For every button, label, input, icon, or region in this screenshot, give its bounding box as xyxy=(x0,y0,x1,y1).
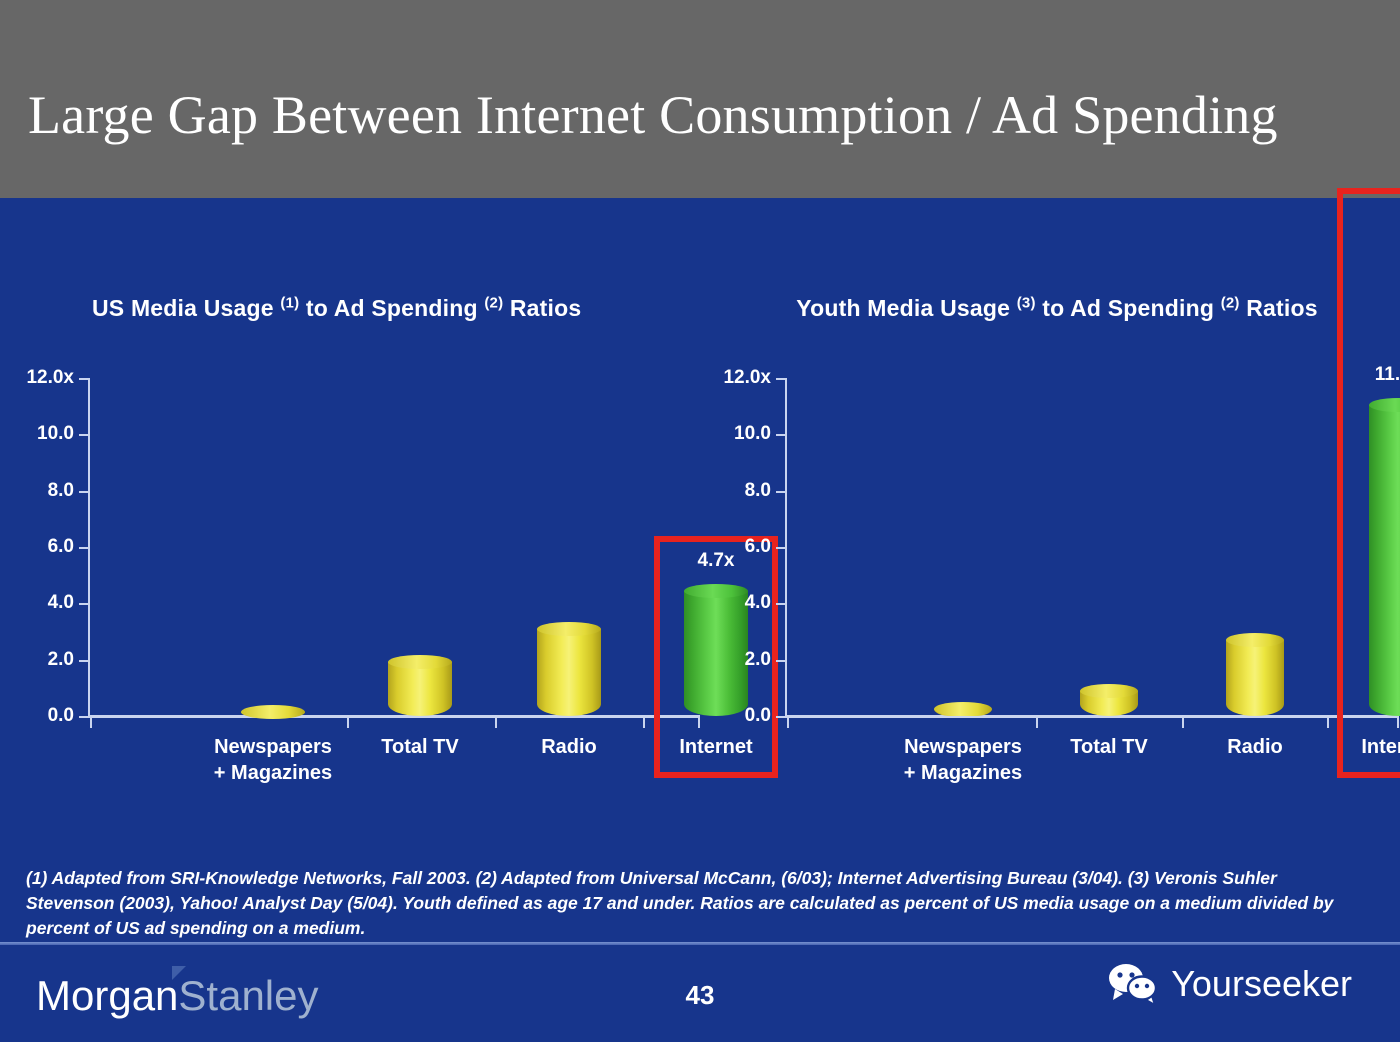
chart-title-right-footnote-3: (3) xyxy=(1017,294,1036,311)
footer-divider xyxy=(0,942,1400,945)
y-tick-mark xyxy=(79,491,89,493)
y-tick-mark xyxy=(776,491,786,493)
brand-watermark: Yourseeker xyxy=(1107,962,1352,1006)
y-tick-mark xyxy=(79,660,89,662)
y-tick-label: 12.0x xyxy=(26,367,74,389)
chart-title-left-footnote-1: (1) xyxy=(280,294,299,311)
y-tick-mark xyxy=(776,603,786,605)
slide: Large Gap Between Internet Consumption /… xyxy=(0,0,1400,1042)
chart-title-right-b: to Ad Spending xyxy=(1036,295,1221,321)
bar-cap xyxy=(241,705,305,719)
bar-us-media-usage-0 xyxy=(241,705,305,716)
y-tick-label: 10.0 xyxy=(734,423,771,445)
morgan-stanley-triangle-icon xyxy=(172,966,186,980)
y-tick-label: 6.0 xyxy=(745,536,771,558)
y-tick-label: 4.0 xyxy=(745,592,771,614)
bar-body xyxy=(388,662,452,716)
y-tick-mark xyxy=(79,716,89,718)
title-band: Large Gap Between Internet Consumption /… xyxy=(0,0,1400,198)
chart-title-left-footnote-2: (2) xyxy=(484,294,503,311)
y-tick-mark xyxy=(79,547,89,549)
page-title: Large Gap Between Internet Consumption /… xyxy=(28,84,1278,146)
y-tick-mark xyxy=(776,547,786,549)
highlight-box-internet xyxy=(1337,188,1400,778)
bar-cap xyxy=(1080,684,1138,698)
y-tick-label: 8.0 xyxy=(745,480,771,502)
chart-title-left-a: US Media Usage xyxy=(92,295,280,321)
chart-title-right-a: Youth Media Usage xyxy=(796,295,1016,321)
x-tick-mark xyxy=(1327,716,1329,728)
bar-body xyxy=(1226,640,1284,716)
y-tick-mark xyxy=(79,603,89,605)
y-tick-label: 2.0 xyxy=(48,649,74,671)
y-tick-label: 8.0 xyxy=(48,480,74,502)
brand-name: Yourseeker xyxy=(1171,964,1352,1004)
bar-us-media-usage-1 xyxy=(388,655,452,716)
x-tick-mark xyxy=(90,716,92,728)
y-tick-mark xyxy=(79,378,89,380)
chart-title-right: Youth Media Usage (3) to Ad Spending (2)… xyxy=(714,290,1400,326)
wechat-icon xyxy=(1107,962,1159,1006)
y-tick-mark xyxy=(776,660,786,662)
chart-youth-media-usage: Youth Media Usage (3) to Ad Spending (2)… xyxy=(714,198,1400,818)
x-tick-mark xyxy=(347,716,349,728)
bar-youth-media-usage-1 xyxy=(1080,684,1138,716)
x-tick-mark xyxy=(1036,716,1038,728)
y-tick-mark xyxy=(776,378,786,380)
footnote-text: (1) Adapted from SRI-Knowledge Networks,… xyxy=(26,866,1366,941)
plot-area-right: 12.0x10.08.06.04.02.00.0Newspapers + Mag… xyxy=(785,378,1399,716)
y-tick-mark xyxy=(776,716,786,718)
y-tick-label: 12.0x xyxy=(723,367,771,389)
bar-cap xyxy=(934,702,992,716)
y-tick-mark xyxy=(79,434,89,436)
x-tick-mark xyxy=(1182,716,1184,728)
x-tick-mark xyxy=(643,716,645,728)
y-tick-label: 10.0 xyxy=(37,423,74,445)
plot-area-left: 12.0x10.08.06.04.02.00.0Newspapers + Mag… xyxy=(88,378,700,716)
bar-body xyxy=(537,629,601,716)
chart-title-left: US Media Usage (1) to Ad Spending (2) Ra… xyxy=(0,290,692,326)
y-tick-label: 6.0 xyxy=(48,536,74,558)
y-tick-label: 0.0 xyxy=(745,705,771,727)
x-tick-mark xyxy=(495,716,497,728)
chart-title-left-b: to Ad Spending xyxy=(299,295,484,321)
bar-cap xyxy=(537,622,601,636)
chart-title-right-c: Ratios xyxy=(1240,295,1318,321)
chart-us-media-usage: US Media Usage (1) to Ad Spending (2) Ra… xyxy=(0,198,714,818)
chart-title-right-footnote-2: (2) xyxy=(1221,294,1240,311)
x-tick-mark xyxy=(787,716,789,728)
bar-youth-media-usage-0 xyxy=(934,702,992,716)
y-tick-label: 4.0 xyxy=(48,592,74,614)
bar-youth-media-usage-2 xyxy=(1226,633,1284,716)
bar-cap xyxy=(1226,633,1284,647)
y-tick-mark xyxy=(776,434,786,436)
bar-us-media-usage-2 xyxy=(537,622,601,716)
y-tick-label: 2.0 xyxy=(745,649,771,671)
y-tick-label: 0.0 xyxy=(48,705,74,727)
chart-title-left-c: Ratios xyxy=(503,295,581,321)
